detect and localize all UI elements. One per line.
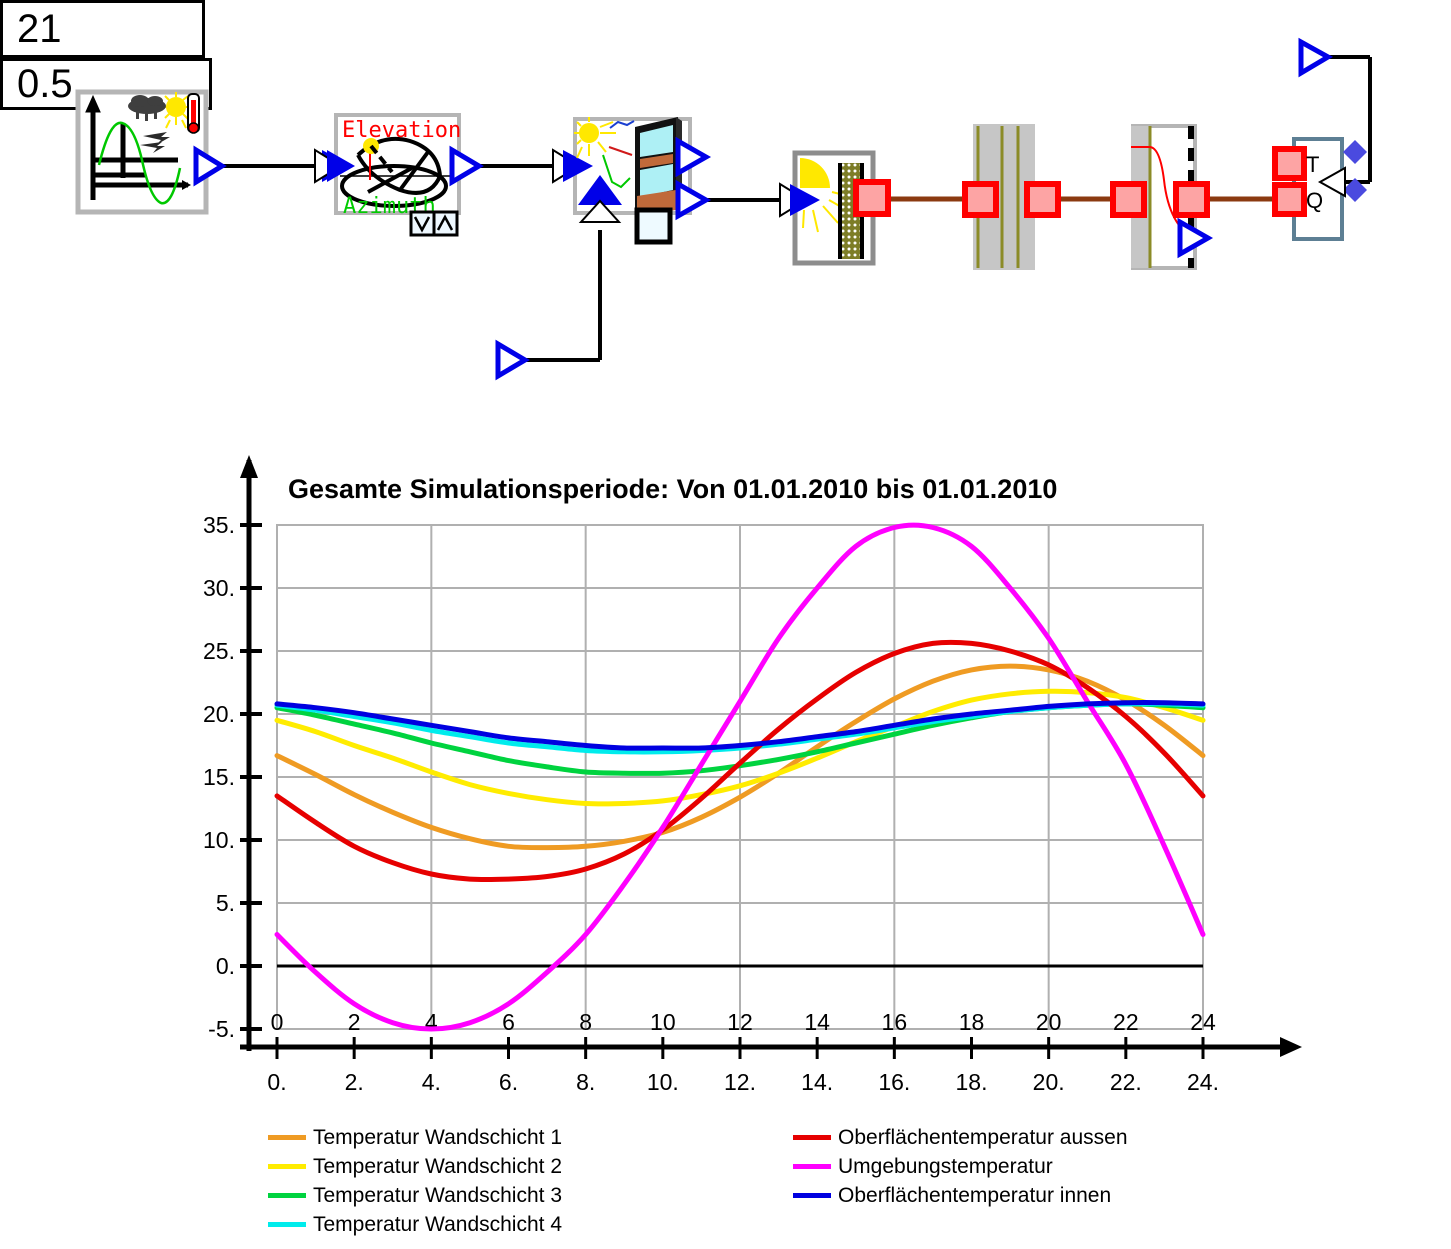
- x-tick-label-top: 6: [502, 1009, 515, 1035]
- x-tick-label-bottom: 22.: [1110, 1069, 1142, 1095]
- legend-column-left: Temperatur Wandschicht 1Temperatur Wands…: [268, 1123, 562, 1239]
- thermometer-icon: [188, 94, 199, 133]
- x-tick-label-bottom: 6.: [499, 1069, 518, 1095]
- x-tick-label-bottom: 24.: [1187, 1069, 1219, 1095]
- thermal-port-icon: [856, 182, 888, 214]
- x-tick-label-top: 22: [1113, 1009, 1139, 1035]
- x-tick-label-top: 2: [348, 1009, 361, 1035]
- y-tick-label: 10.: [203, 827, 235, 853]
- x-tick-label-bottom: 8.: [576, 1069, 595, 1095]
- wall-layer-block[interactable]: [965, 124, 1058, 270]
- y-tick-label: 30.: [203, 575, 235, 601]
- legend-label: Temperatur Wandschicht 2: [313, 1155, 562, 1179]
- y-tick-label: 5.: [216, 890, 235, 916]
- x-tick-label-bottom: 20.: [1033, 1069, 1065, 1095]
- output-port-icon: [452, 150, 479, 182]
- x-tick-label-bottom: 14.: [801, 1069, 833, 1095]
- prescribed-temperature-block[interactable]: T Q: [1275, 139, 1367, 239]
- y-axis-arrow-icon: [240, 455, 258, 478]
- x-tick-label-top: 20: [1036, 1009, 1062, 1035]
- x-tick-label-top: 18: [959, 1009, 985, 1035]
- thermal-port-icon: [965, 184, 996, 215]
- convection-block[interactable]: [1113, 126, 1208, 268]
- x-tick-label-top: 0: [271, 1009, 284, 1035]
- legend-column-right: Oberflächentemperatur aussenUmgebungstem…: [793, 1123, 1128, 1210]
- legend-item: Oberflächentemperatur aussen: [793, 1123, 1128, 1152]
- window-state-box: [637, 210, 670, 242]
- x-tick-label-top: 12: [727, 1009, 753, 1035]
- legend-swatch: [268, 1193, 306, 1198]
- legend-item: Temperatur Wandschicht 4: [268, 1210, 562, 1239]
- legend-label: Oberflächentemperatur aussen: [838, 1126, 1128, 1150]
- constant-output-port-icon: [498, 344, 525, 376]
- diagram-canvas: Elevation Azimuth: [0, 0, 1451, 430]
- y-tick-label: -5.: [208, 1016, 235, 1042]
- modelica-diagram: Elevation Azimuth: [0, 0, 1451, 430]
- x-tick-label-bottom: 2.: [345, 1069, 364, 1095]
- output-port-icon: [196, 150, 222, 182]
- y-tick-label: 0.: [216, 953, 235, 979]
- x-tick-label-bottom: 4.: [422, 1069, 441, 1095]
- x-tick-label-bottom: 12.: [724, 1069, 756, 1095]
- thermal-port-q-icon: [1275, 185, 1304, 214]
- x-tick-label-bottom: 16.: [878, 1069, 910, 1095]
- legend-swatch: [268, 1135, 306, 1140]
- legend-label: Temperatur Wandschicht 1: [313, 1126, 562, 1150]
- y-tick-label: 20.: [203, 701, 235, 727]
- legend-label: Temperatur Wandschicht 4: [313, 1213, 562, 1237]
- x-tick-label-top: 24: [1190, 1009, 1216, 1035]
- legend-swatch: [793, 1193, 831, 1198]
- legend-swatch: [793, 1164, 831, 1169]
- port-label-q: Q: [1306, 188, 1323, 213]
- x-tick-label-top: 14: [804, 1009, 830, 1035]
- x-tick-label-bottom: 0.: [267, 1069, 286, 1095]
- y-tick-label: 25.: [203, 638, 235, 664]
- thermal-port-icon: [1027, 184, 1058, 215]
- input-diamond-icon: [1343, 140, 1367, 164]
- port-label-t: T: [1306, 152, 1319, 177]
- simulation-result-chart: Gesamte Simulationsperiode: Von 01.01.20…: [0, 430, 1451, 1249]
- legend-item: Temperatur Wandschicht 1: [268, 1123, 562, 1152]
- thermal-port-t-icon: [1275, 149, 1304, 178]
- solar-absorption-surface-block[interactable]: [780, 153, 888, 263]
- legend-label: Oberflächentemperatur innen: [838, 1184, 1111, 1208]
- x-tick-label-top: 16: [882, 1009, 908, 1035]
- chart-legend: Temperatur Wandschicht 1Temperatur Wands…: [268, 1123, 1388, 1243]
- thermal-port-icon: [1176, 184, 1207, 215]
- legend-swatch: [268, 1222, 306, 1227]
- y-tick-label: 35.: [203, 512, 235, 538]
- constant-output-port-icon: [1301, 42, 1328, 73]
- legend-item: Temperatur Wandschicht 2: [268, 1152, 562, 1181]
- legend-swatch: [268, 1164, 306, 1169]
- x-tick-label-bottom: 10.: [647, 1069, 679, 1095]
- x-tick-label-top: 8: [579, 1009, 592, 1035]
- x-tick-label-top: 10: [650, 1009, 676, 1035]
- up-arrow-button[interactable]: [434, 212, 457, 235]
- thermal-port-icon: [1113, 184, 1144, 215]
- solar-radiation-window-block[interactable]: [553, 117, 706, 242]
- window-pane-icon: [635, 117, 682, 216]
- weather-data-block[interactable]: [78, 92, 222, 212]
- x-tick-label-bottom: 18.: [956, 1069, 988, 1095]
- y-tick-label: 15.: [203, 764, 235, 790]
- legend-label: Temperatur Wandschicht 3: [313, 1184, 562, 1208]
- legend-item: Umgebungstemperatur: [793, 1152, 1128, 1181]
- down-arrow-button[interactable]: [411, 212, 434, 235]
- legend-swatch: [793, 1135, 831, 1140]
- legend-item: Temperatur Wandschicht 3: [268, 1181, 562, 1210]
- x-axis-arrow-icon: [1280, 1037, 1302, 1057]
- legend-label: Umgebungstemperatur: [838, 1155, 1053, 1179]
- elevation-label: Elevation: [342, 118, 461, 143]
- legend-item: Oberflächentemperatur innen: [793, 1181, 1128, 1210]
- sun-position-block[interactable]: Elevation Azimuth: [315, 115, 479, 235]
